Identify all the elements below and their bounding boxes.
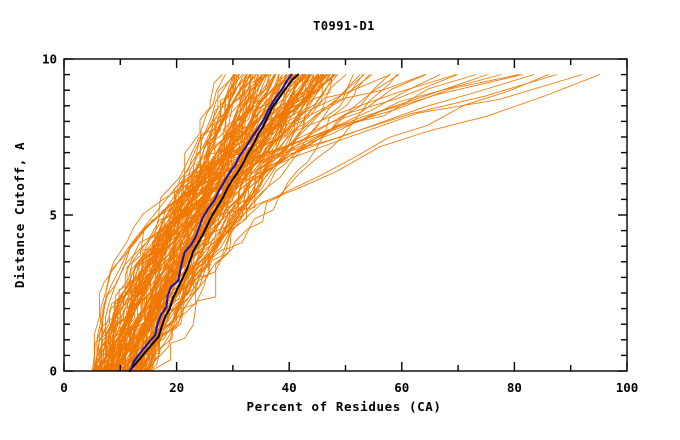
x-tick-label: 60 bbox=[394, 380, 409, 395]
x-tick-label: 0 bbox=[60, 380, 68, 395]
chart-figure: T0991-D1 020406080100 0510 Percent of Re… bbox=[0, 0, 680, 440]
x-tick-label: 100 bbox=[616, 380, 639, 395]
y-axis-label: Distance Cutoff, A bbox=[12, 142, 27, 288]
x-axis-label: Percent of Residues (CA) bbox=[246, 399, 441, 414]
y-tick-label: 0 bbox=[49, 364, 57, 379]
x-tick-label: 20 bbox=[169, 380, 184, 395]
y-tick-label: 5 bbox=[49, 208, 57, 223]
figure-background bbox=[0, 0, 680, 440]
x-tick-label: 40 bbox=[282, 380, 297, 395]
y-tick-label: 10 bbox=[42, 52, 57, 67]
page-title: T0991-D1 bbox=[313, 19, 375, 33]
x-tick-label: 80 bbox=[507, 380, 522, 395]
